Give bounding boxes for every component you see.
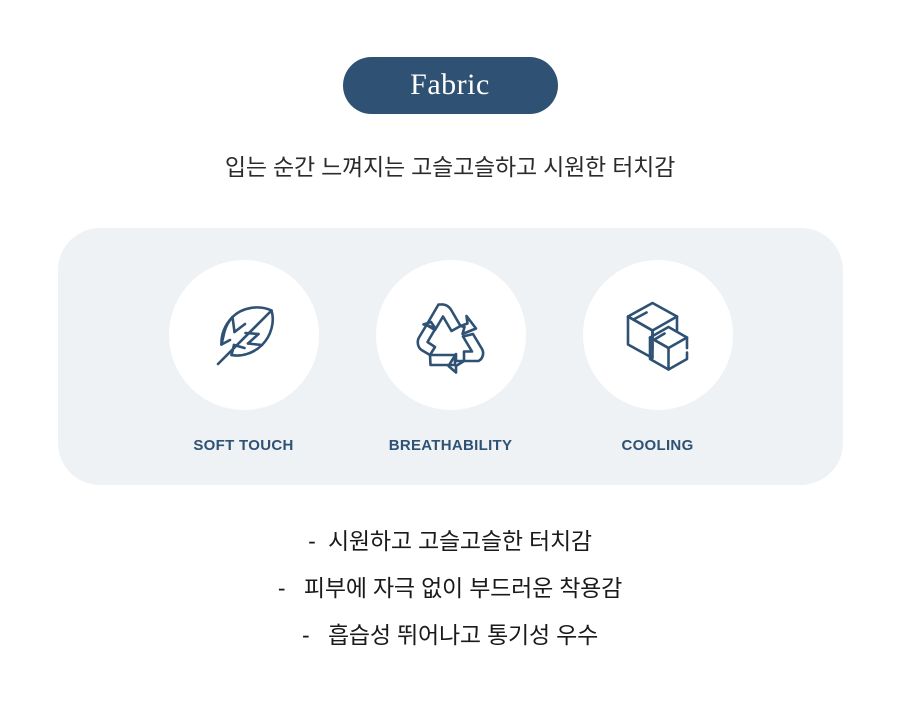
feature-icon-circle (583, 260, 733, 410)
feature-icon-circle (169, 260, 319, 410)
fabric-detail-page: Fabric 입는 순간 느껴지는 고슬고슬하고 시원한 터치감 (0, 0, 900, 706)
badge-row: Fabric (0, 57, 900, 114)
fabric-benefit-list: - 시원하고 고슬고슬한 터치감 - 피부에 자극 없이 부드러운 착용감 - … (0, 518, 900, 659)
list-item: - 피부에 자극 없이 부드러운 착용감 (0, 565, 900, 612)
feature-label: BREATHABILITY (389, 437, 513, 454)
feature-item-breathability: BREATHABILITY (347, 228, 554, 454)
section-subtitle: 입는 순간 느껴지는 고슬고슬하고 시원한 터치감 (0, 150, 900, 184)
feature-label: COOLING (621, 437, 693, 454)
feature-list: SOFT TOUCH (58, 228, 843, 485)
ice-cubes-icon (615, 292, 701, 378)
feature-card: SOFT TOUCH (58, 228, 843, 485)
section-badge-label: Fabric (410, 70, 490, 102)
feature-icon-circle (376, 260, 526, 410)
list-item: - 시원하고 고슬고슬한 터치감 (0, 518, 900, 565)
feature-label: SOFT TOUCH (193, 437, 293, 454)
feather-icon (201, 292, 287, 378)
feature-item-cooling: COOLING (554, 228, 761, 454)
recycle-icon (408, 292, 494, 378)
list-item: - 흡습성 뛰어나고 통기성 우수 (0, 612, 900, 659)
section-badge: Fabric (343, 57, 558, 114)
feature-item-soft-touch: SOFT TOUCH (140, 228, 347, 454)
